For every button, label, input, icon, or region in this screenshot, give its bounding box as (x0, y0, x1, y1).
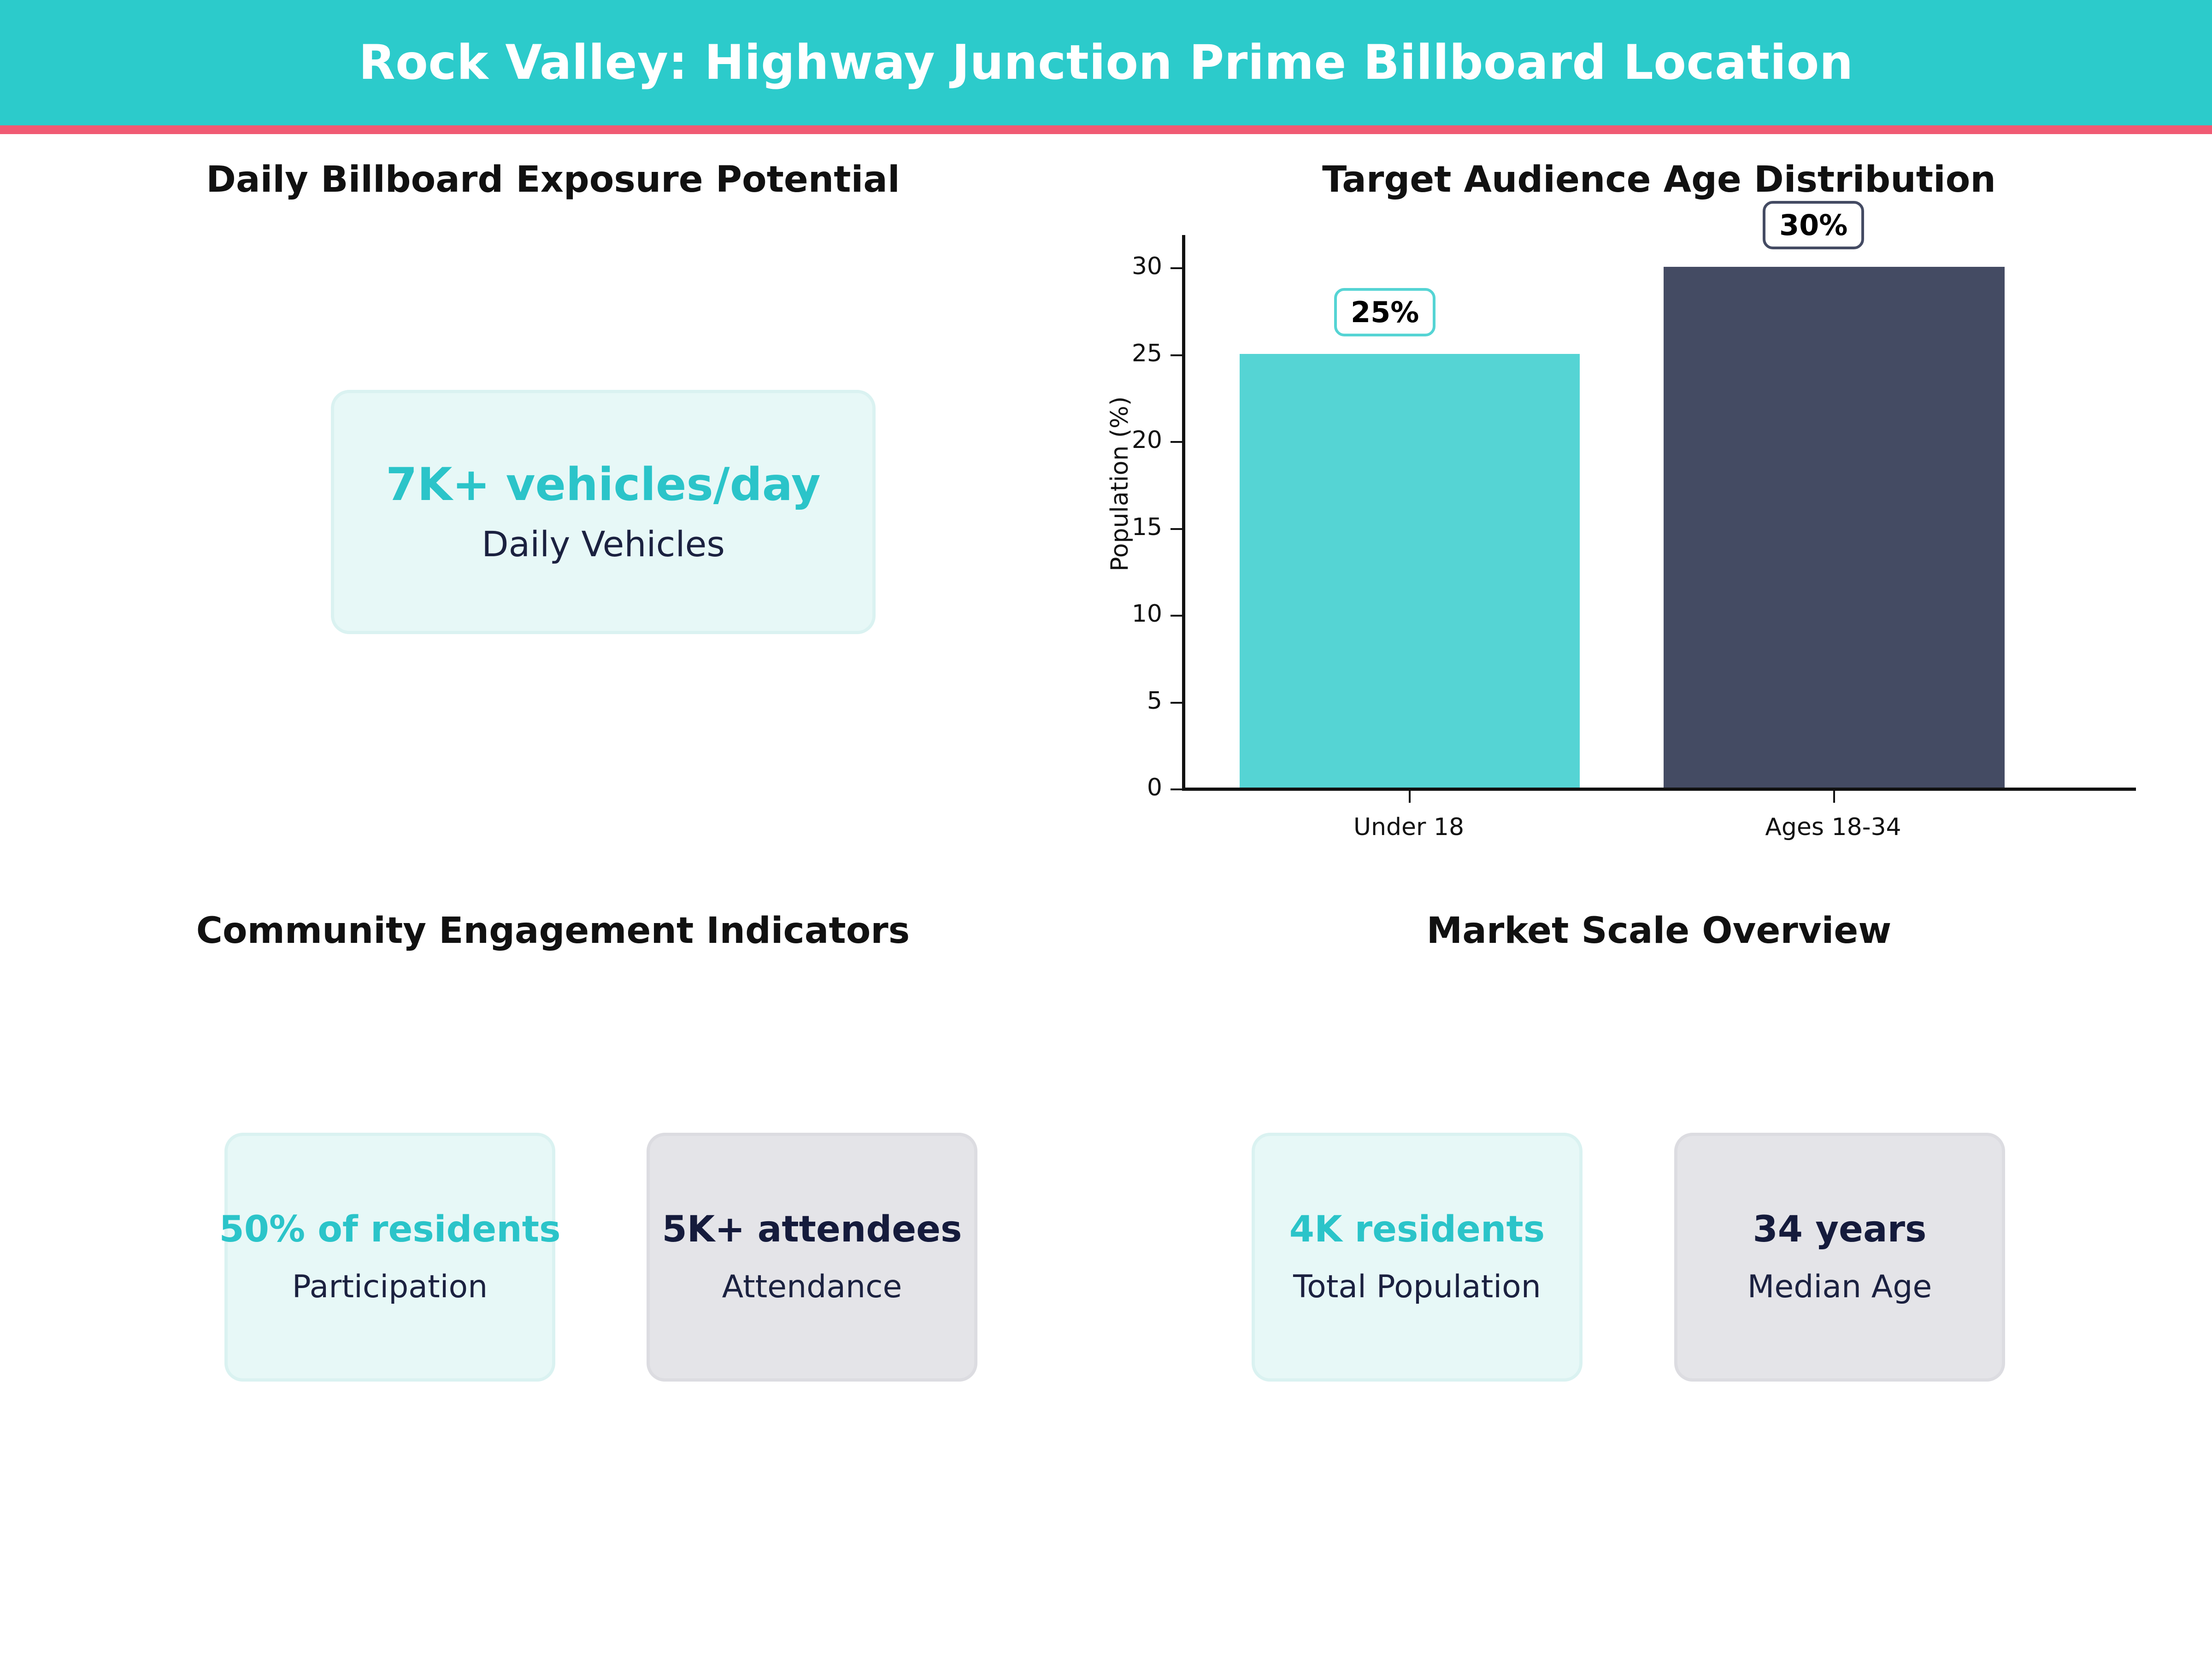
y-tick-mark-0 (1171, 788, 1182, 790)
kpi-card-median-age: 34 years Median Age (1674, 1133, 2005, 1382)
kpi-card-attendance: 5K+ attendees Attendance (647, 1133, 977, 1382)
kpi-label-median-age: Median Age (1747, 1271, 1932, 1303)
y-tick-label-20: 20 (1106, 426, 1162, 454)
kpi-card-daily-vehicles: 7K+ vehicles/day Daily Vehicles (331, 390, 876, 634)
x-tick-label-ages-18-34: Ages 18-34 (1649, 813, 2018, 841)
y-tick-mark-20 (1171, 441, 1182, 443)
y-tick-label-25: 25 (1106, 340, 1162, 367)
y-tick-label-5: 5 (1106, 687, 1162, 715)
bar-under-18[interactable] (1240, 354, 1580, 788)
bar-value-label-ages-18-34: 30% (1763, 201, 1864, 249)
y-tick-label-30: 30 (1106, 253, 1162, 280)
kpi-value-daily-vehicles: 7K+ vehicles/day (386, 462, 821, 507)
kpi-value-attendance: 5K+ attendees (662, 1212, 962, 1247)
kpi-label-attendance: Attendance (722, 1271, 902, 1303)
kpi-label-total-population: Total Population (1293, 1271, 1541, 1303)
y-tick-mark-15 (1171, 528, 1182, 530)
panel-title-exposure: Daily Billboard Exposure Potential (0, 159, 1106, 200)
kpi-card-participation: 50% of residents Participation (224, 1133, 555, 1382)
panel-title-market: Market Scale Overview (1106, 910, 2212, 952)
y-tick-label-15: 15 (1106, 513, 1162, 541)
kpi-card-total-population: 4K residents Total Population (1252, 1133, 1583, 1382)
x-tick-label-under-18: Under 18 (1224, 813, 1593, 841)
x-tick-mark-ages-18-34 (1833, 791, 1835, 803)
kpi-label-participation: Participation (292, 1271, 488, 1303)
y-tick-mark-10 (1171, 615, 1182, 617)
x-axis-line (1182, 788, 2136, 791)
page-header: Rock Valley: Highway Junction Prime Bill… (0, 0, 2212, 125)
y-axis-label: Population (%) (1106, 253, 1134, 714)
x-tick-mark-under-18 (1409, 791, 1411, 803)
y-axis-line (1182, 235, 1185, 790)
panel-title-community: Community Engagement Indicators (0, 910, 1106, 952)
header-accent-bar (0, 125, 2212, 134)
y-tick-mark-30 (1171, 267, 1182, 269)
kpi-value-total-population: 4K residents (1289, 1212, 1545, 1247)
y-tick-mark-25 (1171, 354, 1182, 356)
bar-value-label-under-18: 25% (1334, 288, 1435, 336)
age-distribution-bar-chart: Population (%) 0 5 10 15 20 25 30 25% 30… (1106, 194, 2212, 853)
kpi-value-participation: 50% of residents (219, 1212, 560, 1247)
y-tick-label-10: 10 (1106, 600, 1162, 628)
y-tick-label-0: 0 (1106, 774, 1162, 801)
y-tick-mark-5 (1171, 702, 1182, 704)
kpi-value-median-age: 34 years (1753, 1212, 1927, 1247)
page-title: Rock Valley: Highway Junction Prime Bill… (359, 35, 1853, 90)
kpi-label-daily-vehicles: Daily Vehicles (482, 527, 725, 562)
bar-ages-18-34[interactable] (1664, 267, 2005, 788)
